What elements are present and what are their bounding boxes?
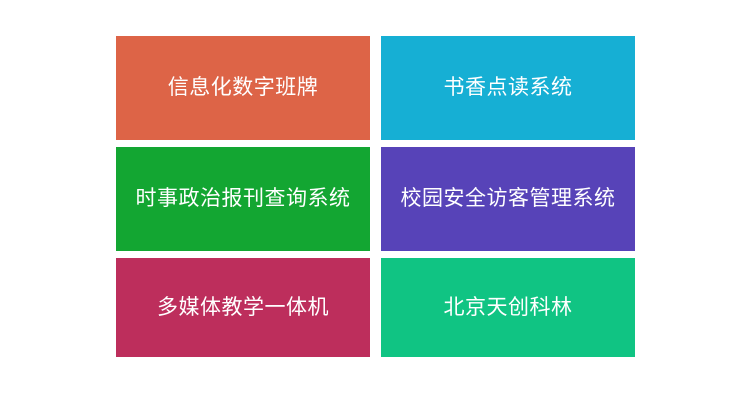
tile-grid: 信息化数字班牌 书香点读系统 时事政治报刊查询系统 校园安全访客管理系统 多媒体…: [116, 36, 635, 357]
tile-multimedia-teaching-all-in-one-machine[interactable]: 多媒体教学一体机: [116, 258, 370, 357]
tile-beijing-tianchuang-kelin[interactable]: 北京天创科林: [381, 258, 635, 357]
tile-current-affairs-press-query-system[interactable]: 时事政治报刊查询系统: [116, 147, 370, 251]
tile-book-reading-system[interactable]: 书香点读系统: [381, 36, 635, 140]
tile-label: 校园安全访客管理系统: [401, 186, 616, 211]
tile-label: 书香点读系统: [444, 75, 573, 100]
tile-label: 时事政治报刊查询系统: [136, 186, 351, 211]
tile-label: 信息化数字班牌: [168, 75, 319, 100]
tile-digital-class-board[interactable]: 信息化数字班牌: [116, 36, 370, 140]
tile-label: 多媒体教学一体机: [157, 295, 329, 320]
tile-label: 北京天创科林: [444, 295, 573, 320]
tile-campus-security-visitor-management-system[interactable]: 校园安全访客管理系统: [381, 147, 635, 251]
